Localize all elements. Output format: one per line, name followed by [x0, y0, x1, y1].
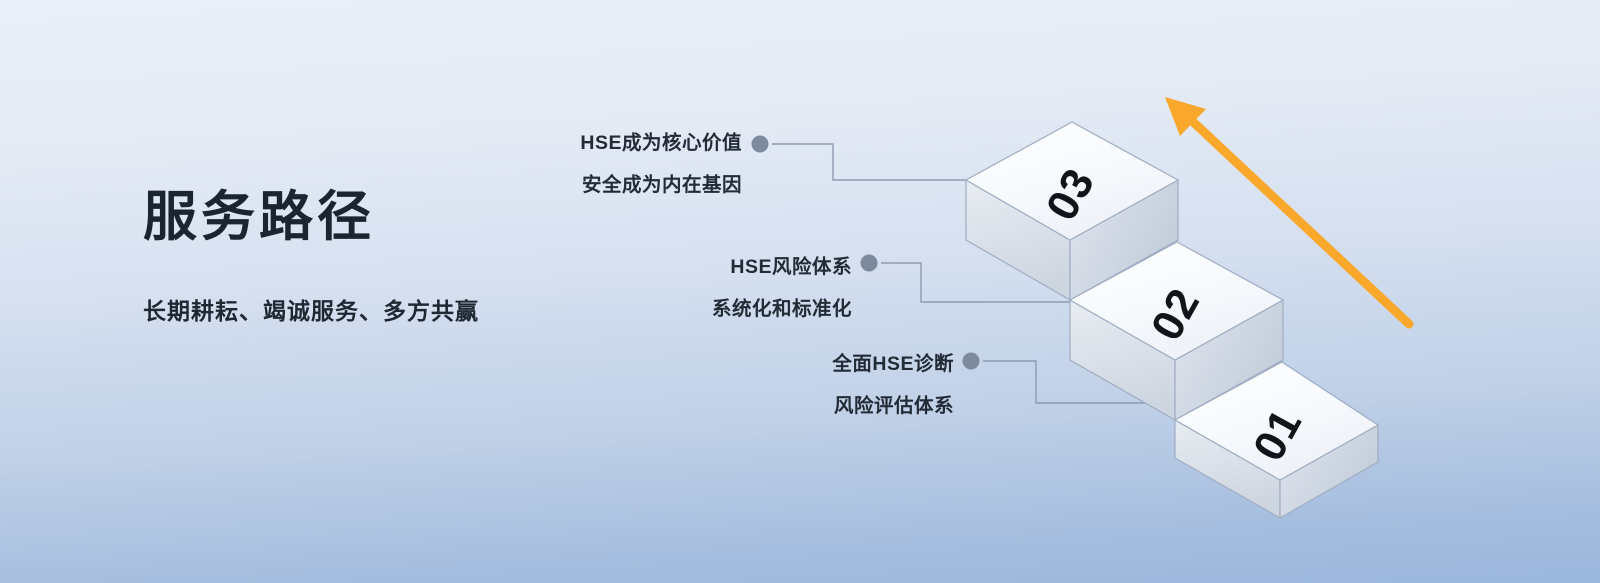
diagram-overlay: 03 02 01	[0, 0, 1600, 583]
slide-canvas: 服务路径 长期耕耘、竭诚服务、多方共赢 HSE成为核心价值 安全成为内在基因 H…	[0, 0, 1600, 583]
connector-dot-step-01	[963, 353, 980, 370]
connector-dot-step-03	[752, 136, 769, 153]
connector-step-03	[752, 136, 976, 181]
connector-dot-step-02	[861, 255, 878, 272]
connector-line-step-03	[772, 144, 975, 180]
